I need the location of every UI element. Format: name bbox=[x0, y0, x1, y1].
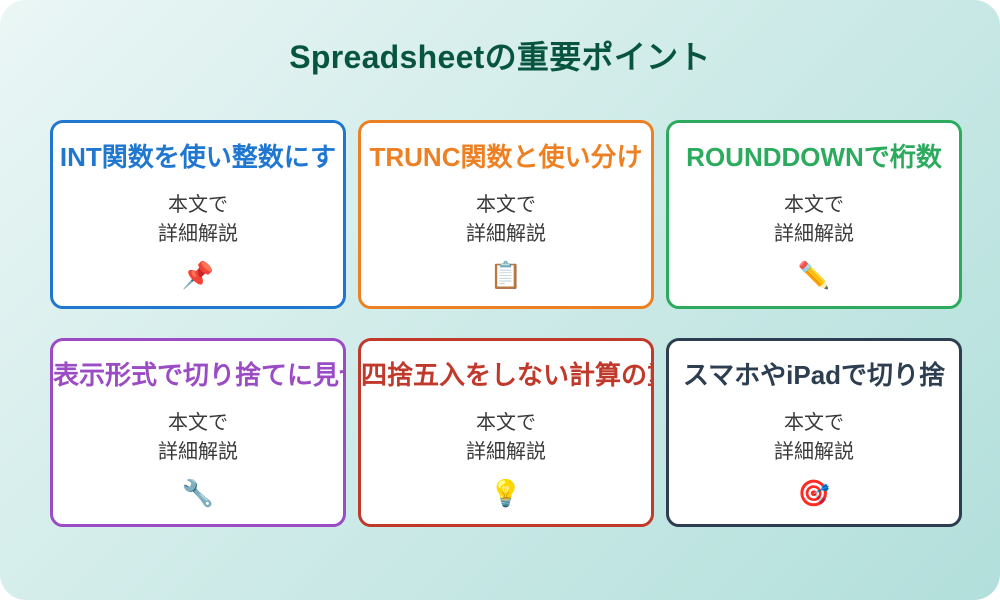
page-title: Spreadsheetの重要ポイント bbox=[0, 32, 1000, 78]
card-body: 本文で 詳細解説 bbox=[669, 409, 959, 467]
dart-target-icon: 🎯 bbox=[669, 480, 959, 506]
card-body: 本文で 詳細解説 bbox=[361, 191, 651, 249]
card-body: 本文で 詳細解説 bbox=[669, 191, 959, 249]
card-title: 表示形式で切り捨てに見せ bbox=[53, 361, 343, 391]
topic-card-1[interactable]: INT関数を使い整数にす 本文で 詳細解説 📌 bbox=[50, 120, 346, 309]
topic-card-4[interactable]: 表示形式で切り捨てに見せ 本文で 詳細解説 🔧 bbox=[50, 338, 346, 527]
topic-card-6[interactable]: スマホやiPadで切り捨 本文で 詳細解説 🎯 bbox=[666, 338, 962, 527]
pushpin-icon: 📌 bbox=[53, 262, 343, 288]
card-body: 本文で 詳細解説 bbox=[53, 409, 343, 467]
card-title: 四捨五入をしない計算の重 bbox=[361, 361, 651, 391]
card-title: INT関数を使い整数にす bbox=[53, 143, 343, 173]
topic-card-3[interactable]: ROUNDDOWNで桁数 本文で 詳細解説 ✏️ bbox=[666, 120, 962, 309]
card-title: TRUNC関数と使い分け bbox=[361, 143, 651, 173]
card-body: 本文で 詳細解説 bbox=[53, 191, 343, 249]
pencil-icon: ✏️ bbox=[669, 262, 959, 288]
topic-card-2[interactable]: TRUNC関数と使い分け 本文で 詳細解説 📋 bbox=[358, 120, 654, 309]
card-grid: INT関数を使い整数にす 本文で 詳細解説 📌 TRUNC関数と使い分け 本文で… bbox=[50, 120, 962, 520]
card-title: スマホやiPadで切り捨 bbox=[669, 361, 959, 391]
topic-card-5[interactable]: 四捨五入をしない計算の重 本文で 詳細解説 💡 bbox=[358, 338, 654, 527]
wrench-icon: 🔧 bbox=[53, 480, 343, 506]
lightbulb-icon: 💡 bbox=[361, 480, 651, 506]
infographic-canvas: Spreadsheetの重要ポイント INT関数を使い整数にす 本文で 詳細解説… bbox=[0, 0, 1000, 600]
card-body: 本文で 詳細解説 bbox=[361, 409, 651, 467]
card-title: ROUNDDOWNで桁数 bbox=[669, 143, 959, 173]
clipboard-icon: 📋 bbox=[361, 262, 651, 288]
